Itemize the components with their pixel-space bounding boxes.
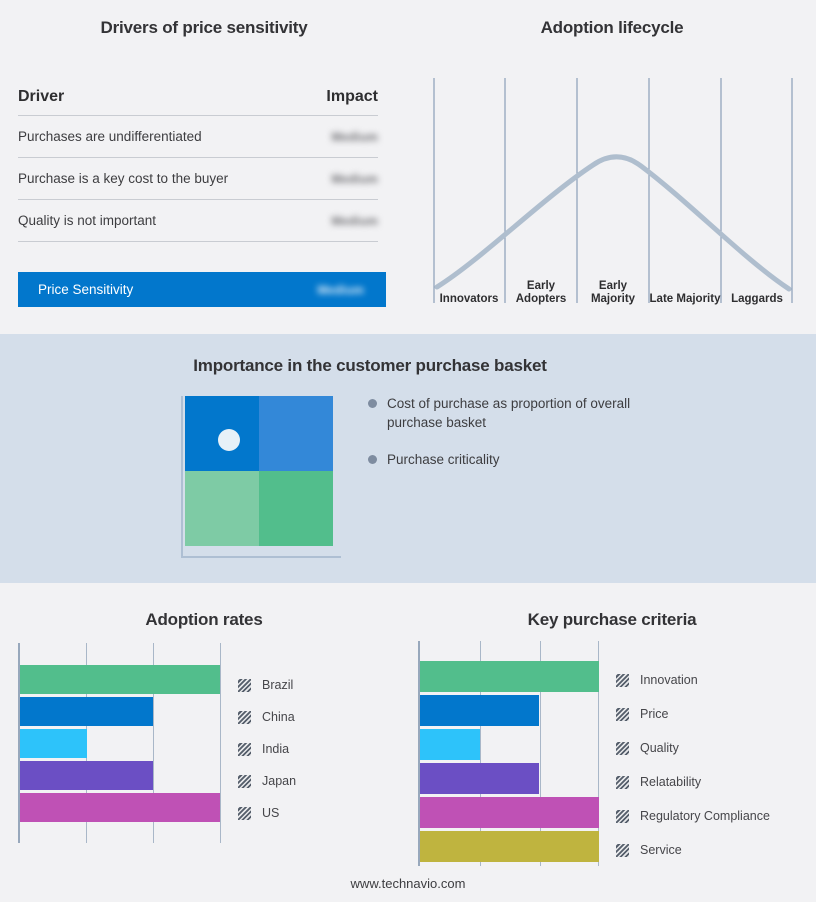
hatched-swatch-icon — [238, 679, 251, 692]
legend-label: Regulatory Compliance — [640, 809, 770, 823]
drivers-table: Driver Impact Purchases are undifferenti… — [18, 88, 378, 242]
list-item: Purchase criticality — [368, 450, 708, 469]
legend-label: Innovation — [640, 673, 698, 687]
hatched-swatch-icon — [616, 742, 629, 755]
driver-label: Purchase is a key cost to the buyer — [18, 171, 228, 186]
hatched-swatch-icon — [616, 674, 629, 687]
table-row: Quality is not important Medium — [18, 200, 378, 242]
list-item: Cost of purchase as proportion of overal… — [368, 394, 708, 432]
legend-label: Price — [640, 707, 668, 721]
bullet-icon — [368, 455, 377, 464]
key-purchase-criteria-panel: Key purchase criteria InnovationPriceQua… — [408, 583, 816, 902]
hatched-swatch-icon — [616, 776, 629, 789]
hatched-swatch-icon — [238, 711, 251, 724]
price-sensitivity-label: Price Sensitivity — [38, 282, 133, 297]
legend-label: US — [262, 806, 279, 820]
bar — [420, 763, 539, 794]
quadrant-top-right — [259, 396, 333, 471]
legend-item: Quality — [616, 731, 806, 765]
legend-item: Service — [616, 833, 806, 867]
adoption-rates-title: Adoption rates — [0, 610, 408, 630]
page-title: Drivers of price sensitivity — [0, 18, 408, 38]
bar — [20, 761, 153, 790]
footer-url: www.technavio.com — [0, 876, 816, 891]
key-purchase-criteria-title: Key purchase criteria — [408, 610, 816, 630]
driver-label: Purchases are undifferentiated — [18, 129, 202, 144]
legend-label: Relatability — [640, 775, 701, 789]
matrix-quadrants — [185, 396, 333, 546]
top-section: Drivers of price sensitivity Driver Impa… — [0, 0, 816, 334]
bottom-section: Adoption rates BrazilChinaIndiaJapanUS K… — [0, 583, 816, 902]
legend-item: India — [238, 733, 388, 765]
stage-label-early-adopters: Early Adopters — [505, 270, 577, 308]
bar — [20, 697, 153, 726]
bar — [420, 831, 599, 862]
stage-label-late-majority: Late Majority — [649, 270, 721, 308]
bar — [420, 797, 599, 828]
price-sensitivity-impact-redacted: Medium — [317, 283, 364, 297]
importance-legend-label: Cost of purchase as proportion of overal… — [387, 394, 657, 432]
adoption-lifecycle-panel: Adoption lifecycle Innovators Early Adop… — [408, 0, 816, 334]
quadrant-top-left — [185, 396, 259, 471]
legend-label: Service — [640, 843, 682, 857]
legend-item: Brazil — [238, 669, 388, 701]
bar-group — [420, 641, 600, 866]
impact-value-redacted: Medium — [331, 172, 378, 186]
bar — [420, 695, 539, 726]
impact-value-redacted: Medium — [331, 130, 378, 144]
hatched-swatch-icon — [238, 775, 251, 788]
hatched-swatch-icon — [616, 708, 629, 721]
legend-item: Japan — [238, 765, 388, 797]
quadrant-bottom-right — [259, 471, 333, 546]
table-row: Purchase is a key cost to the buyer Medi… — [18, 158, 378, 200]
legend-label: India — [262, 742, 289, 756]
bar — [420, 729, 480, 760]
adoption-rates-panel: Adoption rates BrazilChinaIndiaJapanUS — [0, 583, 408, 902]
adoption-lifecycle-title: Adoption lifecycle — [408, 18, 816, 38]
legend-label: Brazil — [262, 678, 293, 692]
purchase-basket-matrix — [181, 396, 341, 558]
adoption-lifecycle-axis-labels: Innovators Early Adopters Early Majority… — [433, 270, 793, 308]
importance-title: Importance in the customer purchase bask… — [0, 356, 740, 376]
stage-label-laggards: Laggards — [721, 270, 793, 308]
bar — [420, 661, 599, 692]
hatched-swatch-icon — [616, 844, 629, 857]
hatched-swatch-icon — [238, 743, 251, 756]
stage-label-early-majority: Early Majority — [577, 270, 649, 308]
legend-item: Price — [616, 697, 806, 731]
key-purchase-criteria-chart — [418, 641, 600, 866]
legend-label: Japan — [262, 774, 296, 788]
adoption-rates-legend: BrazilChinaIndiaJapanUS — [238, 669, 388, 829]
bar-group — [20, 643, 223, 843]
legend-label: Quality — [640, 741, 679, 755]
bar — [20, 729, 87, 758]
impact-value-redacted: Medium — [331, 214, 378, 228]
adoption-rates-chart — [18, 643, 223, 843]
legend-label: China — [262, 710, 295, 724]
importance-in-purchase-basket-panel: Importance in the customer purchase bask… — [0, 334, 816, 583]
bar — [20, 793, 220, 822]
legend-item: Relatability — [616, 765, 806, 799]
quadrant-bottom-left — [185, 471, 259, 546]
legend-item: Regulatory Compliance — [616, 799, 806, 833]
legend-item: Innovation — [616, 663, 806, 697]
legend-item: US — [238, 797, 388, 829]
stage-label-innovators: Innovators — [433, 270, 505, 308]
table-row: Purchases are undifferentiated Medium — [18, 116, 378, 158]
bullet-icon — [368, 399, 377, 408]
driver-label: Quality is not important — [18, 213, 156, 228]
column-header-driver: Driver — [18, 88, 64, 106]
table-header-row: Driver Impact — [18, 88, 378, 116]
importance-legend: Cost of purchase as proportion of overal… — [368, 394, 708, 487]
hatched-swatch-icon — [616, 810, 629, 823]
legend-item: China — [238, 701, 388, 733]
drivers-of-price-sensitivity-panel: Drivers of price sensitivity Driver Impa… — [0, 0, 408, 334]
bar — [20, 665, 220, 694]
position-marker-dot — [218, 429, 240, 451]
hatched-swatch-icon — [238, 807, 251, 820]
key-purchase-criteria-legend: InnovationPriceQualityRelatabilityRegula… — [616, 663, 806, 867]
importance-legend-label: Purchase criticality — [387, 450, 500, 469]
price-sensitivity-summary-bar: Price Sensitivity Medium — [18, 272, 386, 307]
column-header-impact: Impact — [326, 88, 378, 106]
